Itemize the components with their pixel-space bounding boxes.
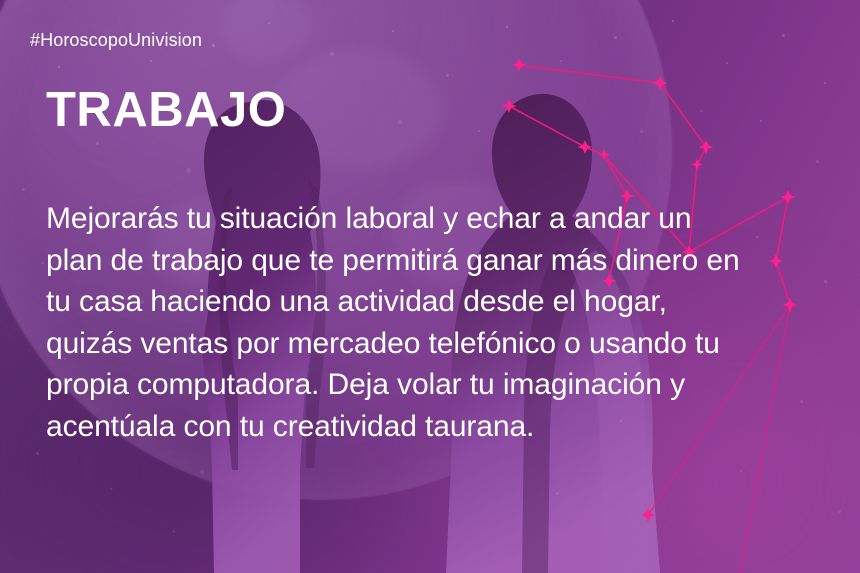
body-line-5: propia computadora. Deja volar tu imagin… <box>46 364 836 406</box>
body-line-4: quizás ventas por mercadeo telefónico o … <box>46 323 836 365</box>
body-line-3: tu casa haciendo una actividad desde el … <box>46 281 836 323</box>
text-content: #HoroscopoUnivision TRABAJO Mejorarás tu… <box>0 0 860 573</box>
page-title: TRABAJO <box>46 86 286 135</box>
body-line-6: acentúala con tu creatividad taurana. <box>46 406 836 448</box>
horoscope-body-text: Mejorarás tu situación laboral y echar a… <box>46 198 836 447</box>
body-line-1: Mejorarás tu situación laboral y echar a… <box>46 198 836 240</box>
body-line-2: plan de trabajo que te permitirá ganar m… <box>46 240 836 282</box>
hashtag-label: #HoroscopoUnivision <box>30 30 202 51</box>
horoscope-card: #HoroscopoUnivision TRABAJO Mejorarás tu… <box>0 0 860 573</box>
